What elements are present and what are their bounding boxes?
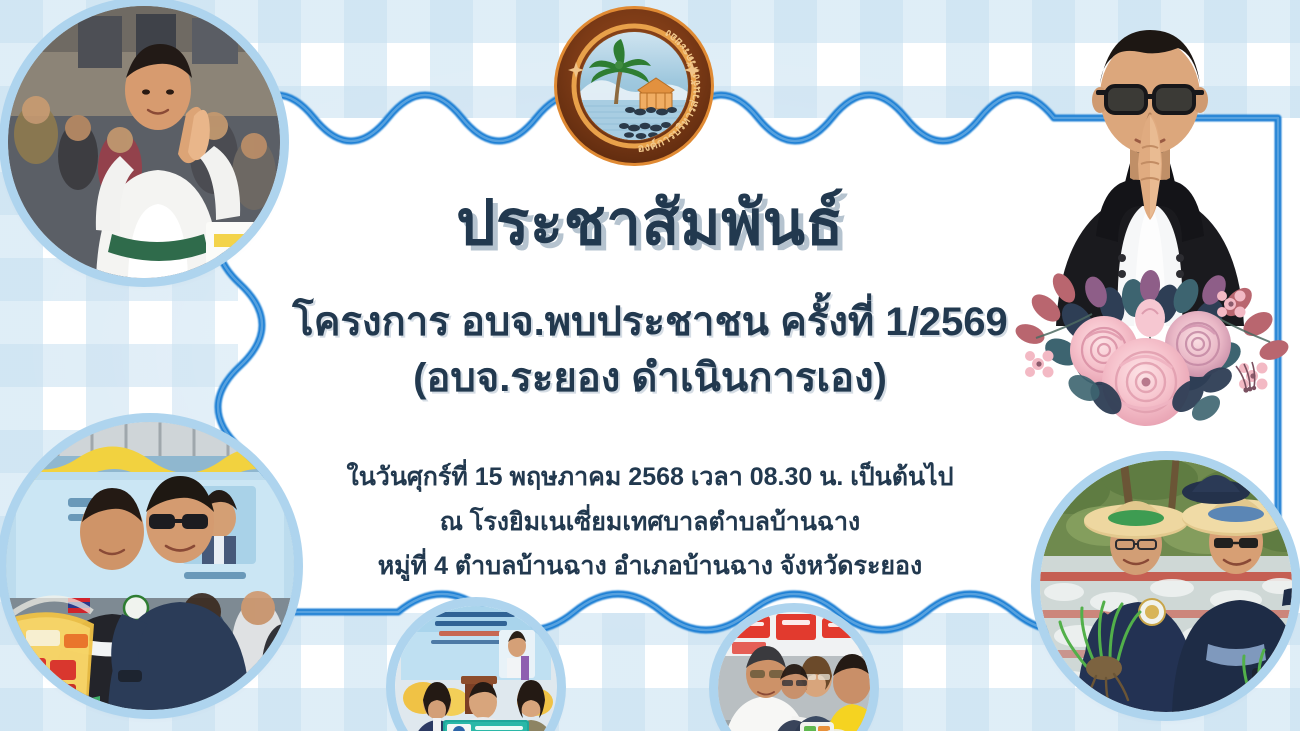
event-details: ในวันศุกร์ที่ 15 พฤษภาคม 2568 เวลา 08.30… bbox=[346, 461, 953, 583]
project-title-line-1: โครงการ อบจ.พบประชาชน ครั้งที่ 1/2569 bbox=[292, 297, 1007, 347]
event-venue-line: ณ โรงยิมเนเซี่ยมเทศบาลตำบลบ้านฉาง bbox=[346, 506, 953, 539]
provincial-seal-logo: องค์การบริหารส่วนจังหวัดระยอง bbox=[552, 4, 716, 168]
page-title: ประชาสัมพันธ์ bbox=[456, 188, 844, 259]
poster-root: องค์การบริหารส่วนจังหวัดระยอง bbox=[0, 0, 1300, 731]
photo-top-left bbox=[8, 6, 280, 278]
photo-bottom-right bbox=[1040, 460, 1292, 712]
event-datetime-line: ในวันศุกร์ที่ 15 พฤษภาคม 2568 เวลา 08.30… bbox=[346, 461, 953, 494]
floral-bouquet-decor bbox=[1000, 246, 1300, 446]
event-address-line: หมู่ที่ 4 ตำบลบ้านฉาง อำเภอบ้านฉาง จังหว… bbox=[346, 550, 953, 583]
photo-bottom-left bbox=[6, 422, 294, 710]
project-title-line-2: (อบจ.ระยอง ดำเนินการเอง) bbox=[413, 353, 887, 403]
